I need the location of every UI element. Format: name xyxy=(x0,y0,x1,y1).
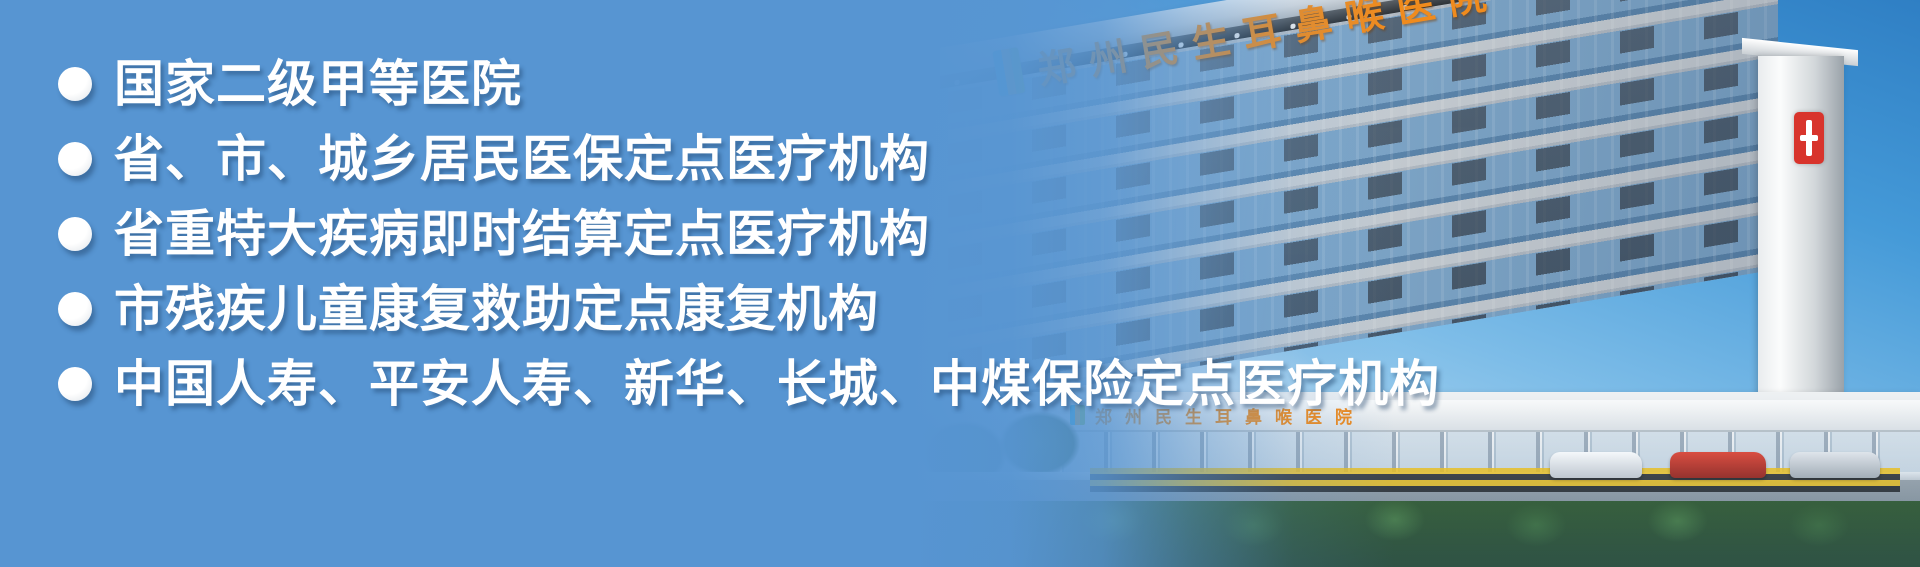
car-white xyxy=(1550,452,1642,478)
bullet-circle-icon xyxy=(58,67,92,101)
bullet-circle-icon xyxy=(58,292,92,326)
car-red xyxy=(1670,452,1766,478)
credential-text-3: 省重特大疾病即时结算定点医疗机构 xyxy=(114,209,930,259)
traffic-bollards xyxy=(1090,468,1900,492)
car-silver xyxy=(1790,452,1880,478)
hospital-credentials-banner: 郑州民生耳鼻喉医院 郑州民生耳鼻喉医院 国家二级甲等医院 省、市、城乡居民医保定… xyxy=(0,0,1920,567)
list-item: 国家二级甲等医院 xyxy=(58,46,1478,121)
bullet-circle-icon xyxy=(58,367,92,401)
red-cross-icon xyxy=(1794,112,1824,164)
credential-text-5: 中国人寿、平安人寿、新华、长城、中煤保险定点医疗机构 xyxy=(114,359,1440,409)
bullet-circle-icon xyxy=(58,217,92,251)
credential-text-2: 省、市、城乡居民医保定点医疗机构 xyxy=(114,134,930,184)
list-item: 市残疾儿童康复救助定点康复机构 xyxy=(58,271,1478,346)
list-item: 中国人寿、平安人寿、新华、长城、中煤保险定点医疗机构 xyxy=(58,346,1478,421)
credentials-list: 国家二级甲等医院 省、市、城乡居民医保定点医疗机构 省重特大疾病即时结算定点医疗… xyxy=(58,46,1478,421)
foreground-hedge xyxy=(910,501,1920,567)
list-item: 省重特大疾病即时结算定点医疗机构 xyxy=(58,196,1478,271)
list-item: 省、市、城乡居民医保定点医疗机构 xyxy=(58,121,1478,196)
credential-text-4: 市残疾儿童康复救助定点康复机构 xyxy=(114,284,879,334)
lift-shaft-column xyxy=(1758,56,1844,408)
bullet-circle-icon xyxy=(58,142,92,176)
credential-text-1: 国家二级甲等医院 xyxy=(114,59,522,109)
